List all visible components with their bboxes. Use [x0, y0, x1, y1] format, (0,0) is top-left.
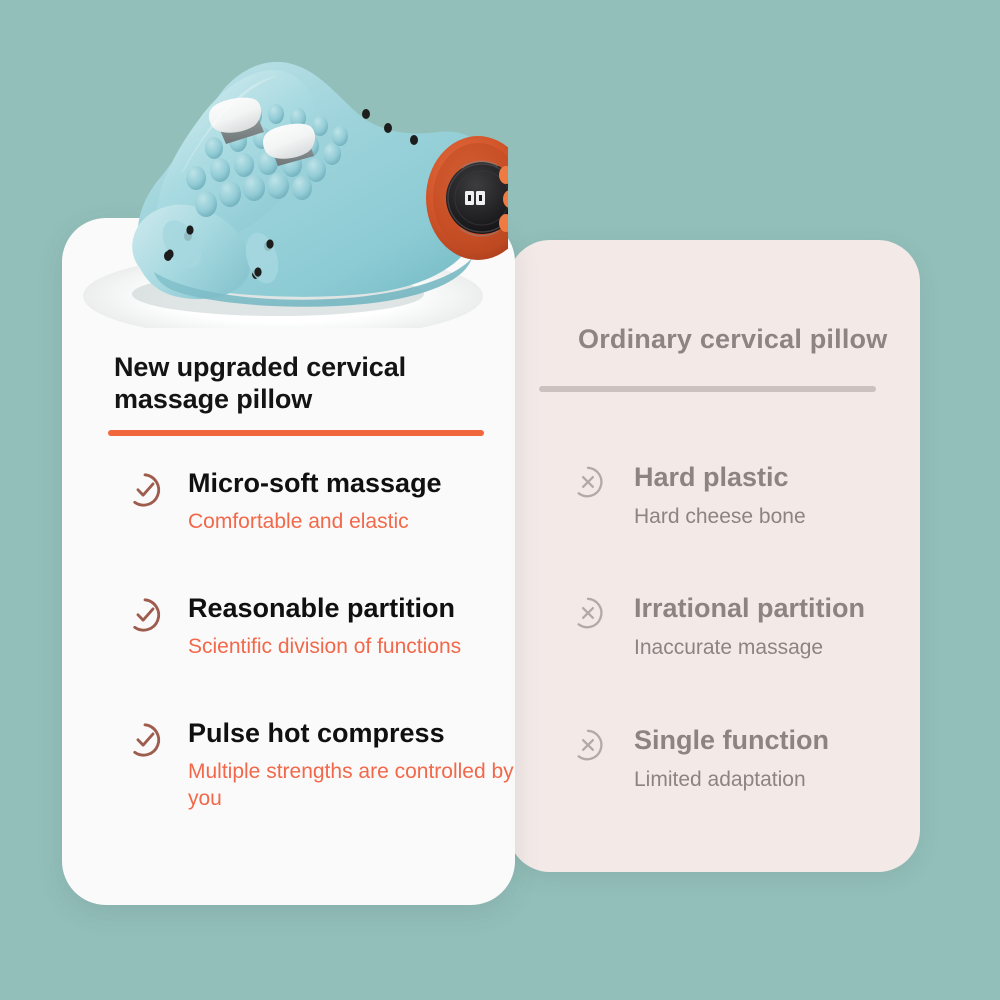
page-title: New upgraded cervical massage pillow — [114, 352, 486, 415]
list-item-subtitle: Comfortable and elastic — [188, 509, 516, 536]
cross-circle-icon — [570, 464, 606, 500]
list-item: Irrational partition Inaccurate massage — [570, 593, 920, 661]
comparison-infographic: Ordinary cervical pillow Hard plastic Ha… — [0, 0, 1000, 1000]
list-item: Hard plastic Hard cheese bone — [570, 462, 920, 530]
list-item-text: Single function Limited adaptation — [570, 725, 920, 793]
list-item-subtitle: Multiple strengths are controlled by you — [188, 759, 516, 813]
list-item: Micro-soft massage Comfortable and elast… — [126, 468, 516, 536]
list-item-text: Hard plastic Hard cheese bone — [570, 462, 920, 530]
accent-bar — [108, 430, 484, 436]
list-item-title: Micro-soft massage — [188, 468, 516, 499]
cross-circle-icon — [570, 595, 606, 631]
list-item: Pulse hot compress Multiple strengths ar… — [126, 718, 516, 813]
list-item: Reasonable partition Scientific division… — [126, 593, 516, 661]
product-image — [78, 28, 508, 328]
list-item-text: Micro-soft massage Comfortable and elast… — [126, 468, 516, 536]
list-item-title: Hard plastic — [634, 462, 920, 493]
list-item-text: Irrational partition Inaccurate massage — [570, 593, 920, 661]
check-circle-icon — [126, 471, 164, 509]
list-item-title: Reasonable partition — [188, 593, 516, 624]
new-feature-list: Micro-soft massage Comfortable and elast… — [126, 468, 516, 813]
ordinary-card-divider — [539, 386, 876, 392]
ordinary-pillow-card: Ordinary cervical pillow Hard plastic Ha… — [508, 240, 920, 872]
list-item-title: Pulse hot compress — [188, 718, 516, 749]
list-item-subtitle: Limited adaptation — [634, 767, 920, 793]
check-circle-icon — [126, 721, 164, 759]
check-circle-icon — [126, 596, 164, 634]
ordinary-feature-list: Hard plastic Hard cheese bone Irrational… — [570, 462, 920, 793]
list-item-text: Pulse hot compress Multiple strengths ar… — [126, 718, 516, 813]
list-item-title: Single function — [634, 725, 920, 756]
list-item-subtitle: Scientific division of functions — [188, 634, 516, 661]
list-item-subtitle: Inaccurate massage — [634, 635, 920, 661]
cross-circle-icon — [570, 727, 606, 763]
ordinary-card-title: Ordinary cervical pillow — [578, 324, 887, 355]
list-item-text: Reasonable partition Scientific division… — [126, 593, 516, 661]
list-item-subtitle: Hard cheese bone — [634, 504, 920, 530]
list-item-title: Irrational partition — [634, 593, 920, 624]
list-item: Single function Limited adaptation — [570, 725, 920, 793]
